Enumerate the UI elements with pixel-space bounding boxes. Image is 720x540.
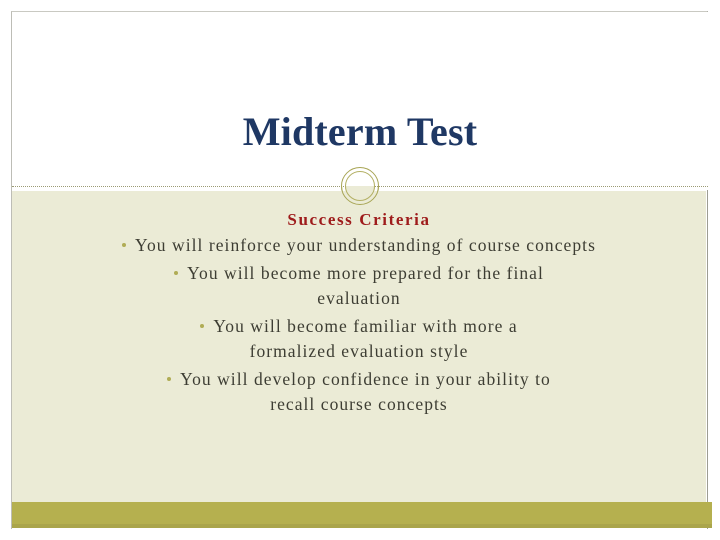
circle-ornament-lower-half [341, 186, 379, 206]
list-item-text: You will become more prepared for the fi… [187, 263, 544, 308]
list-item: You will become familiar with more a for… [159, 314, 559, 364]
slide-body-panel: Success Criteria You will reinforce your… [12, 191, 706, 503]
list-item-text: You will become familiar with more a for… [213, 316, 517, 361]
success-criteria-list: You will reinforce your understanding of… [12, 233, 706, 420]
slide-title-region: Midterm Test [12, 12, 708, 190]
bullet-dot-icon [122, 243, 126, 247]
footer-accent-bar-shade [12, 524, 712, 528]
presentation-slide: Midterm Test Success Criteria You will r… [0, 0, 720, 540]
section-heading: Success Criteria [12, 210, 706, 230]
list-item: You will become more prepared for the fi… [134, 261, 584, 311]
bullet-dot-icon [167, 377, 171, 381]
list-item-text: You will develop confidence in your abil… [180, 369, 551, 414]
list-item: You will reinforce your understanding of… [59, 233, 659, 258]
bullet-dot-icon [174, 271, 178, 275]
page-title: Midterm Test [12, 109, 708, 155]
ornament-outer-ring-lower [341, 186, 379, 205]
list-item-text: You will reinforce your understanding of… [135, 235, 596, 255]
bullet-dot-icon [200, 324, 204, 328]
list-item: You will develop confidence in your abil… [144, 367, 574, 417]
